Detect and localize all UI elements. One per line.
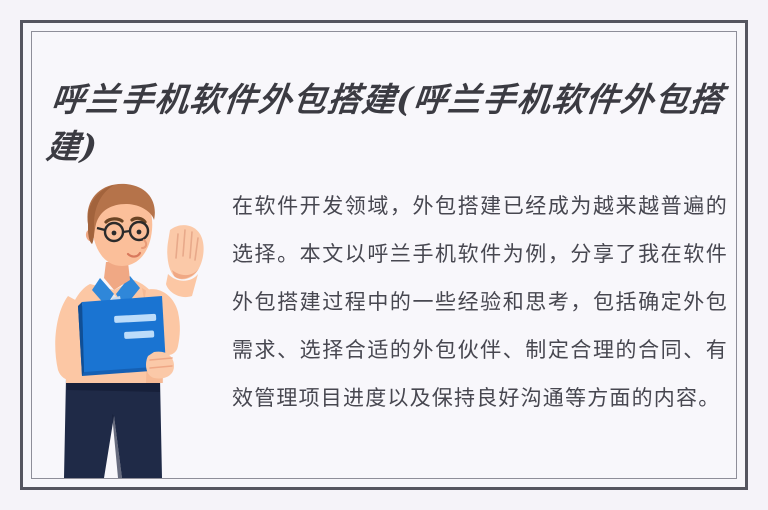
outer-frame-border: 呼兰手机软件外包搭建(呼兰手机软件外包搭建) bbox=[20, 20, 748, 490]
article-body-row: 在软件开发领域，外包搭建已经成为越来越普遍的选择。本文以呼兰手机软件为例，分享了… bbox=[32, 170, 736, 478]
article-page: 呼兰手机软件外包搭建(呼兰手机软件外包搭建) bbox=[0, 0, 768, 510]
man-waving-holding-book-icon bbox=[42, 178, 232, 478]
article-content: 呼兰手机软件外包搭建(呼兰手机软件外包搭建) bbox=[32, 32, 736, 478]
article-illustration bbox=[42, 178, 232, 478]
inner-frame-border: 呼兰手机软件外包搭建(呼兰手机软件外包搭建) bbox=[31, 31, 737, 479]
holding-hand-shape bbox=[146, 352, 174, 379]
head-shape bbox=[86, 184, 155, 266]
article-paragraph: 在软件开发领域，外包搭建已经成为越来越普遍的选择。本文以呼兰手机软件为例，分享了… bbox=[232, 170, 736, 422]
trousers-shape bbox=[64, 378, 162, 478]
page-title: 呼兰手机软件外包搭建(呼兰手机软件外包搭建) bbox=[44, 76, 736, 170]
